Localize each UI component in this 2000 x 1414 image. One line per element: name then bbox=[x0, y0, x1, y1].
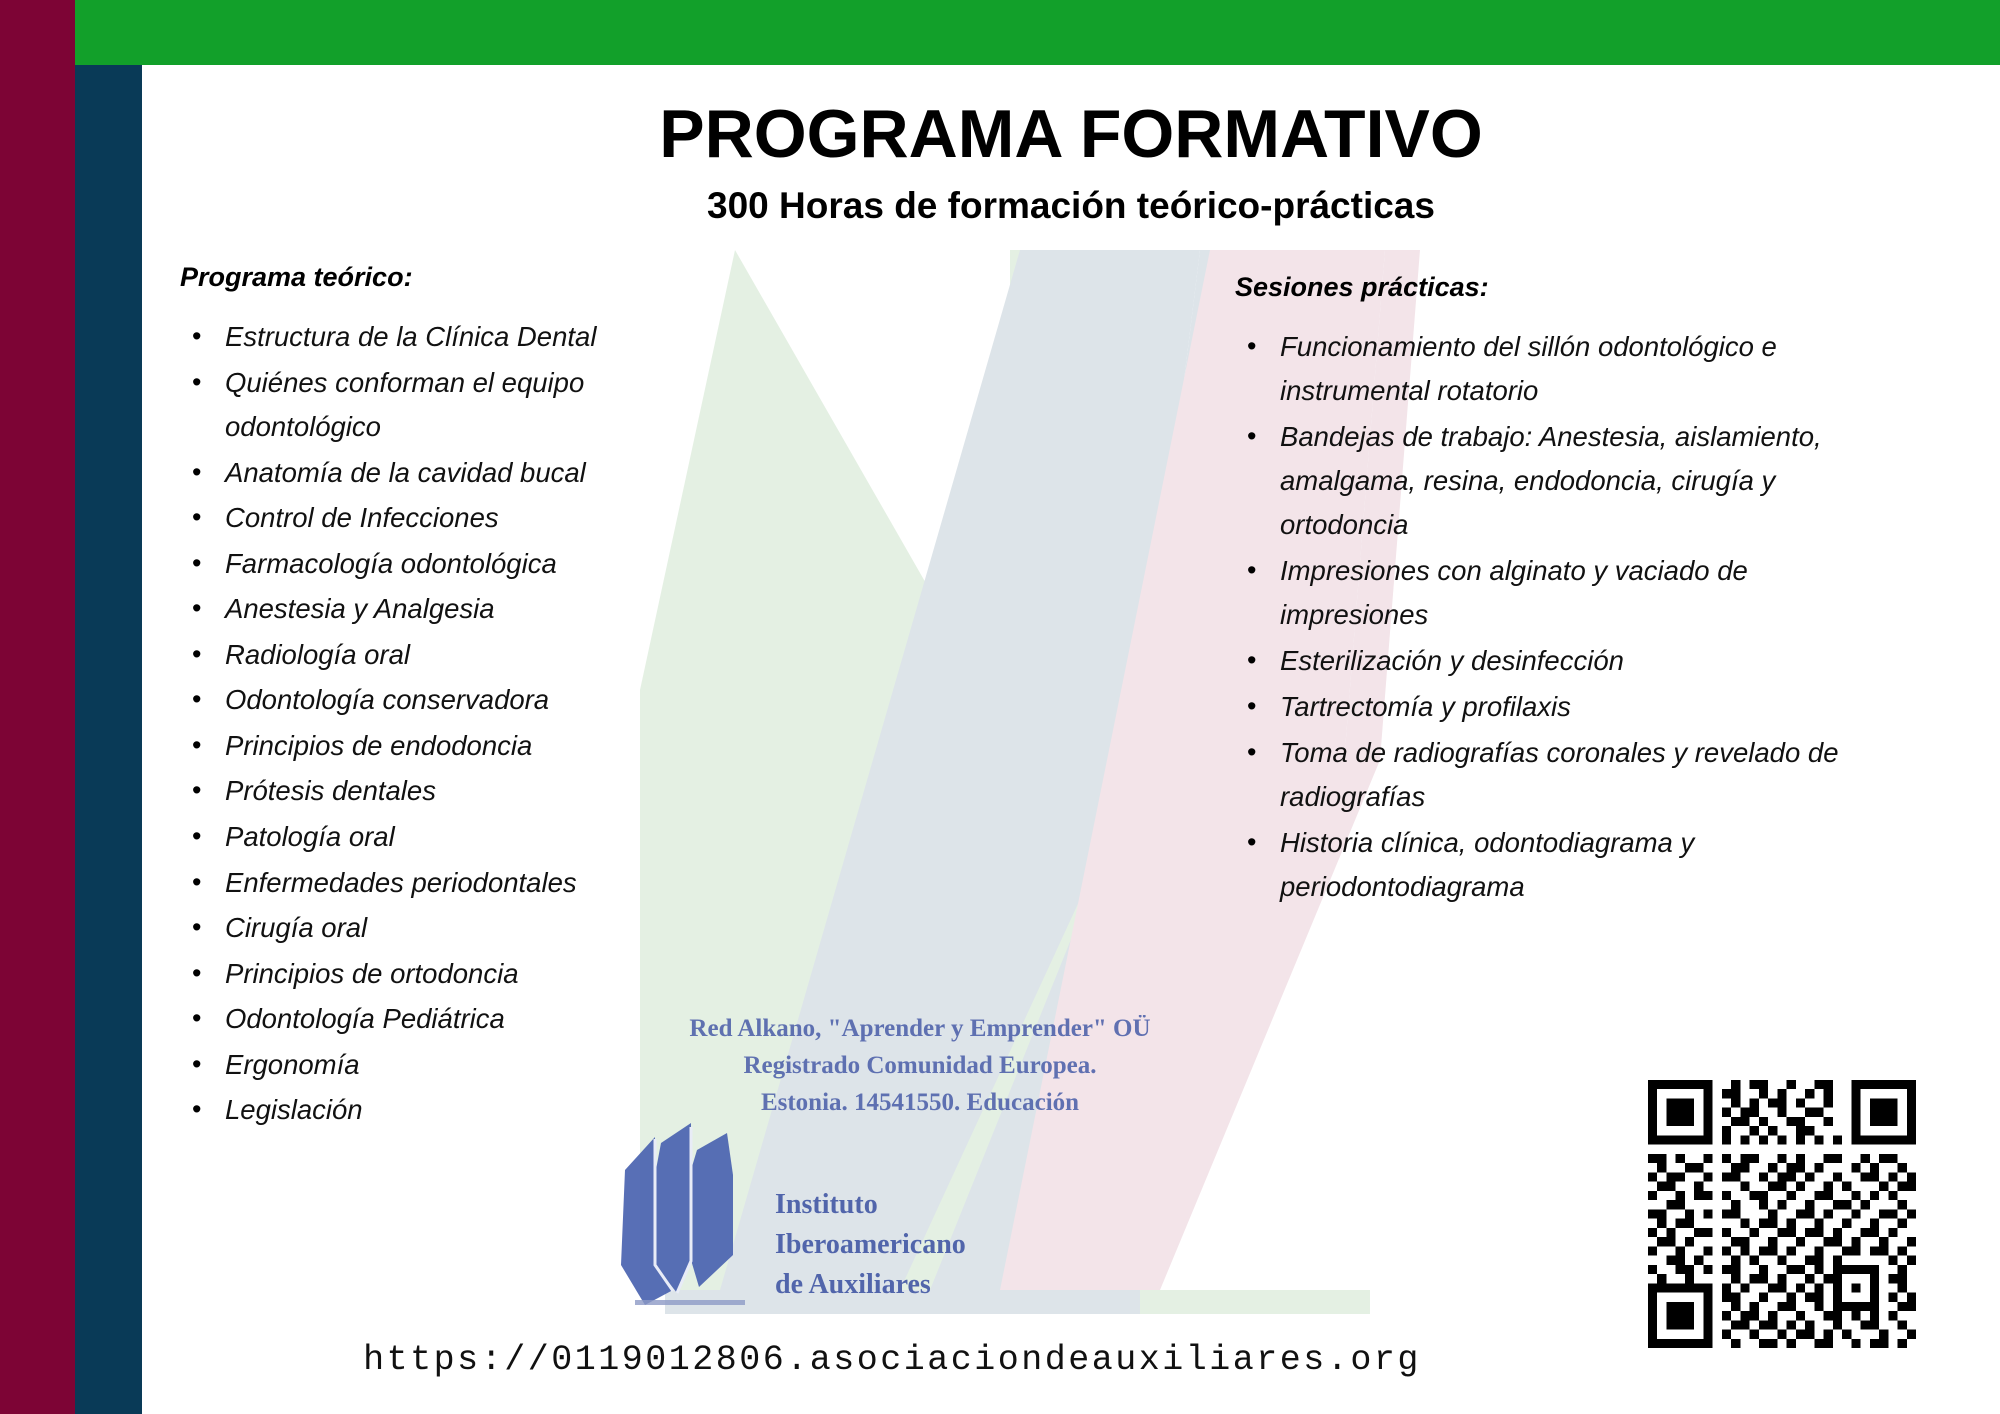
list-item: Quiénes conforman el equipo odontológico bbox=[180, 361, 740, 450]
institute-line-3: de Auxiliares bbox=[775, 1265, 1105, 1305]
left-maroon-bar bbox=[0, 0, 75, 1414]
qr-code[interactable] bbox=[1648, 1080, 1916, 1348]
list-item: Historia clínica, odontodiagrama y perio… bbox=[1235, 821, 1875, 909]
list-item: Principios de ortodoncia bbox=[180, 952, 740, 997]
list-item: Prótesis dentales bbox=[180, 769, 740, 814]
list-item: Anatomía de la cavidad bucal bbox=[180, 451, 740, 496]
list-item: Patología oral bbox=[180, 815, 740, 860]
flame-logo-icon bbox=[615, 1115, 755, 1315]
organization-stamp: Red Alkano, "Aprender y Emprender" OÜ Re… bbox=[600, 1010, 1240, 1310]
practice-heading: Sesiones prácticas: bbox=[1235, 272, 1875, 303]
list-item: Bandejas de trabajo: Anestesia, aislamie… bbox=[1235, 415, 1875, 547]
list-item: Funcionamiento del sillón odontológico e… bbox=[1235, 325, 1875, 413]
list-item: Toma de radiografías coronales y revelad… bbox=[1235, 731, 1875, 819]
list-item: Enfermedades periodontales bbox=[180, 861, 740, 906]
list-item: Tartrectomía y profilaxis bbox=[1235, 685, 1875, 729]
list-item: Esterilización y desinfección bbox=[1235, 639, 1875, 683]
poster-page: PROGRAMA FORMATIVO 300 Horas de formació… bbox=[0, 0, 2000, 1414]
left-navy-bar bbox=[75, 65, 142, 1414]
list-item: Principios de endodoncia bbox=[180, 724, 740, 769]
institute-line-1: Instituto bbox=[775, 1185, 1105, 1225]
stamp-text: Red Alkano, "Aprender y Emprender" OÜ Re… bbox=[600, 1010, 1240, 1121]
list-item: Impresiones con alginato y vaciado de im… bbox=[1235, 549, 1875, 637]
stamp-underline bbox=[635, 1300, 745, 1305]
theory-heading: Programa teórico: bbox=[180, 262, 740, 293]
stamp-line-2: Registrado Comunidad Europea. bbox=[600, 1047, 1240, 1084]
footer-url[interactable]: https://0119012806.asociaciondeauxiliare… bbox=[142, 1340, 1642, 1380]
list-item: Odontología conservadora bbox=[180, 678, 740, 723]
theory-column: Programa teórico: Estructura de la Clíni… bbox=[180, 262, 740, 1134]
list-item: Anestesia y Analgesia bbox=[180, 587, 740, 632]
list-item: Radiología oral bbox=[180, 633, 740, 678]
top-green-bar bbox=[75, 0, 2000, 65]
page-subtitle: 300 Horas de formación teórico-prácticas bbox=[142, 185, 2000, 227]
stamp-line-1: Red Alkano, "Aprender y Emprender" OÜ bbox=[600, 1010, 1240, 1047]
institute-line-2: Iberoamericano bbox=[775, 1225, 1105, 1265]
list-item: Estructura de la Clínica Dental bbox=[180, 315, 740, 360]
list-item: Control de Infecciones bbox=[180, 496, 740, 541]
institute-name: Instituto Iberoamericano de Auxiliares bbox=[775, 1185, 1105, 1304]
list-item: Cirugía oral bbox=[180, 906, 740, 951]
list-item: Farmacología odontológica bbox=[180, 542, 740, 587]
practice-column: Sesiones prácticas: Funcionamiento del s… bbox=[1235, 272, 1875, 911]
practice-list: Funcionamiento del sillón odontológico e… bbox=[1235, 325, 1875, 909]
page-title: PROGRAMA FORMATIVO bbox=[142, 95, 2000, 173]
